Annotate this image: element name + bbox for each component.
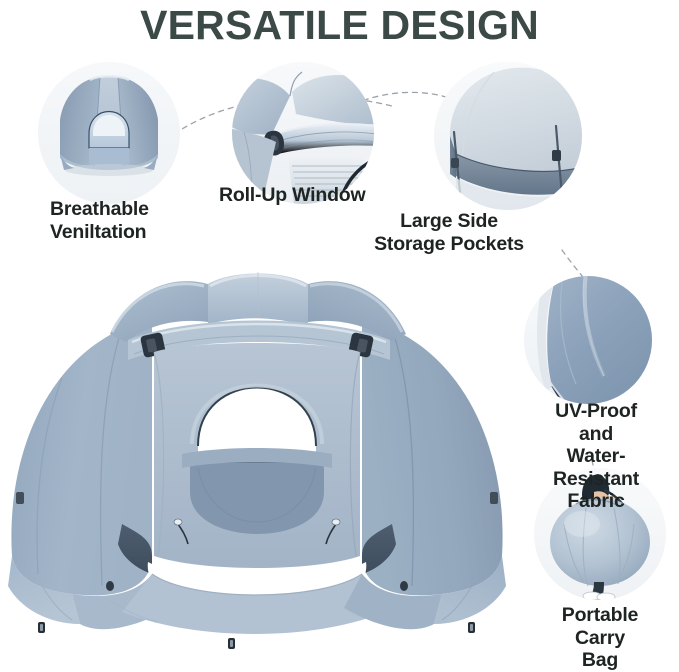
infographic-canvas: VERSATILE DESIGN [0, 0, 679, 661]
callout-image-large-side-storage-pockets [434, 62, 582, 210]
tent-stake-left [38, 622, 45, 633]
hero-image-pop-up-privacy-tent [2, 256, 512, 656]
callout-label-portable-carry-bag: Portable Carry Bag [561, 604, 640, 672]
callout-label-breathable-ventilation: Breathable Veniltation [50, 198, 149, 243]
page-title: VERSATILE DESIGN [0, 2, 679, 48]
callout-label-large-side-storage-pockets: Large Side Storage Pockets [374, 210, 524, 255]
callout-image-uv-proof-water-resistant-fabric [524, 276, 652, 404]
tent-stake-center [228, 638, 235, 649]
callout-label-uv-proof-water-resistant-fabric: UV-Proof and Water-Resistant Fabric [553, 400, 639, 513]
tent-stake-right [468, 622, 475, 633]
callout-label-roll-up-window: Roll-Up Window [219, 184, 366, 207]
callout-image-roll-up-window [232, 62, 374, 204]
callout-image-breathable-ventilation [38, 62, 180, 204]
